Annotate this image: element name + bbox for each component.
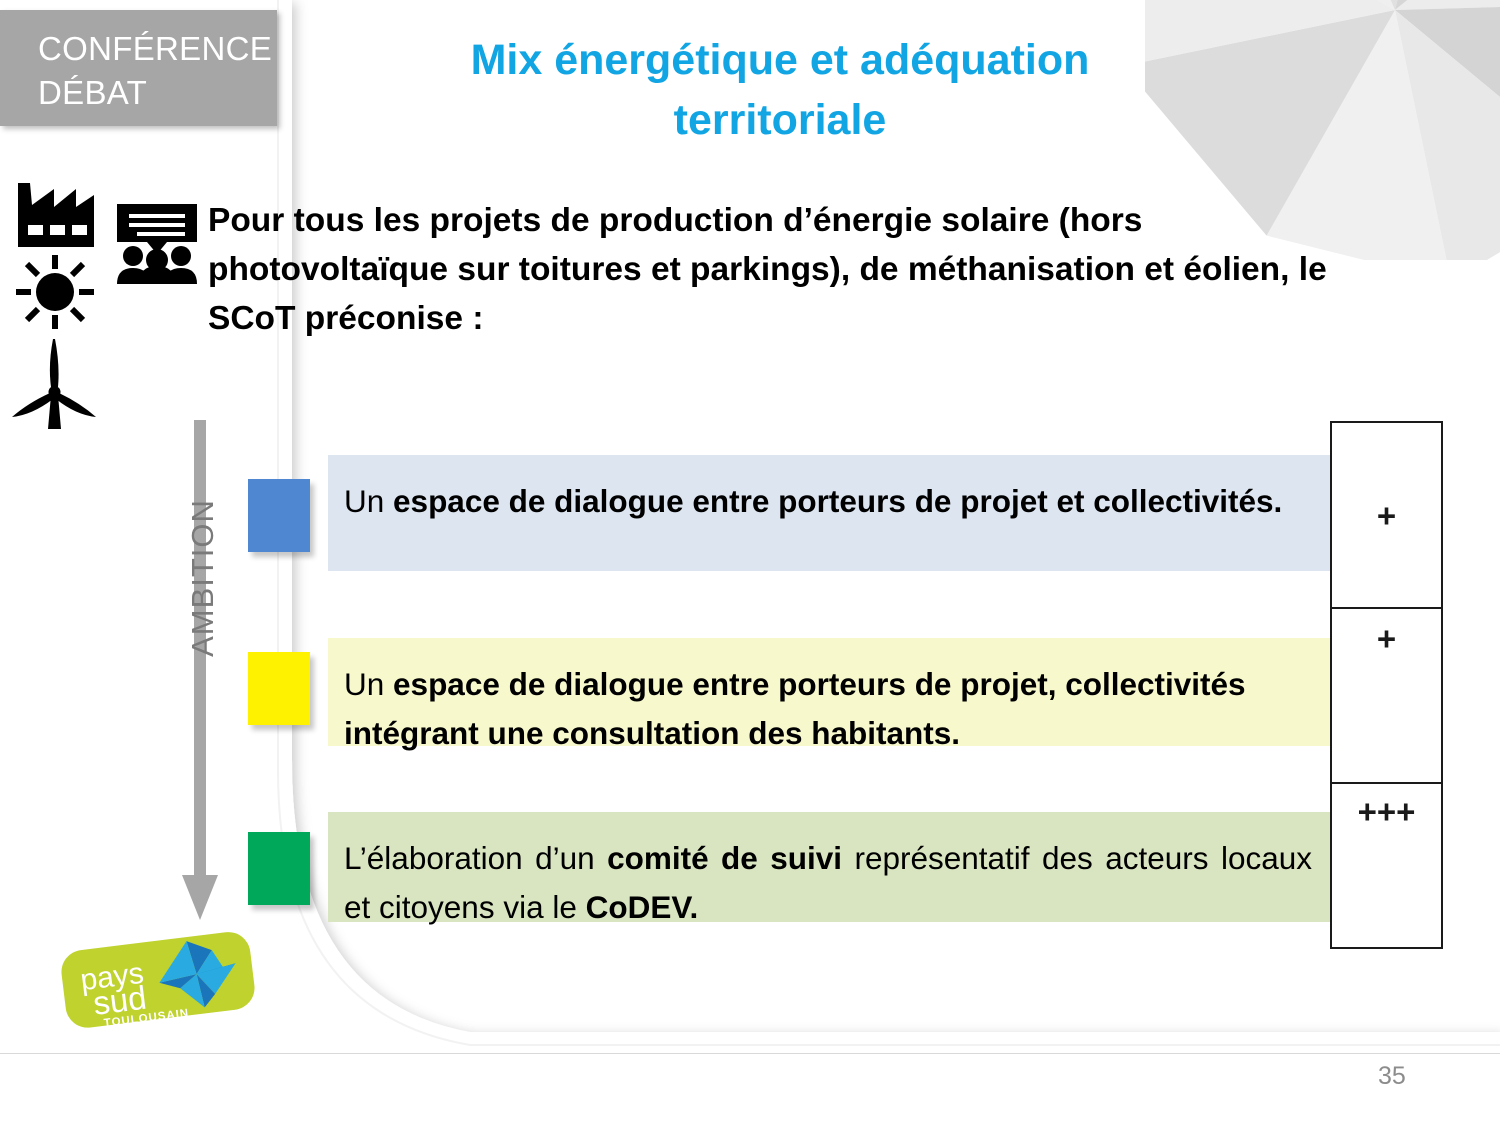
ambition-label: AMBITION: [185, 478, 221, 678]
rating-cell-1: +: [1332, 423, 1441, 609]
slide-canvas: CONFÉRENCE DÉBAT Mix énergétique et adéq…: [0, 0, 1500, 1125]
measure-swatch-green: [248, 832, 310, 905]
measure-text-box-3: L’élaboration d’un comité de suivi repré…: [328, 812, 1330, 922]
badge-line-1: CONFÉRENCE: [38, 27, 277, 71]
measure-swatch-blue: [248, 479, 310, 552]
discussion-group-icon: [113, 202, 201, 284]
energy-icon-stack: [10, 175, 105, 435]
page-title-line-1: Mix énergétique et adéquation: [430, 30, 1130, 90]
measure-3-part-a: L’élaboration d’un: [344, 840, 607, 876]
sun-icon: [10, 253, 100, 331]
measure-text-box-2: Un espace de dialogue entre porteurs de …: [328, 638, 1330, 746]
measure-1-bold: espace de dialogue entre porteurs de pro…: [393, 483, 1282, 519]
page-title-line-2: territoriale: [430, 90, 1130, 150]
intro-line-1: Pour tous les projets de production d’én…: [208, 196, 1466, 245]
intro-line-2: photovoltaïque sur toitures et parkings)…: [208, 245, 1466, 294]
measure-2-plain: Un: [344, 666, 393, 702]
wind-turbine-icon: [10, 337, 100, 429]
measure-swatch-yellow: [248, 652, 310, 725]
measure-3-part-d: CoDEV.: [586, 889, 699, 925]
intro-paragraph: Pour tous les projets de production d’én…: [208, 196, 1466, 343]
pays-sud-toulousain-logo: pays sud TOULOUSAIN: [55, 925, 260, 1035]
measure-1-plain: Un: [344, 483, 393, 519]
factory-icon: [10, 175, 100, 247]
page-title: Mix énergétique et adéquation territoria…: [430, 30, 1130, 150]
footer-divider: [0, 1053, 1500, 1054]
rating-cell-2: +: [1332, 609, 1441, 784]
badge-line-2: DÉBAT: [38, 71, 277, 115]
rating-cell-3: +++: [1332, 784, 1441, 949]
measure-3-part-b: comité de suivi: [607, 840, 842, 876]
measure-2-bold: espace de dialogue entre porteurs de pro…: [344, 666, 1246, 751]
conference-badge: CONFÉRENCE DÉBAT: [0, 10, 277, 126]
intro-line-3: SCoT préconise :: [208, 294, 1466, 343]
rating-table: + + +++: [1330, 421, 1443, 949]
page-number: 35: [1378, 1062, 1406, 1091]
measure-text-box-1: Un espace de dialogue entre porteurs de …: [328, 455, 1330, 571]
